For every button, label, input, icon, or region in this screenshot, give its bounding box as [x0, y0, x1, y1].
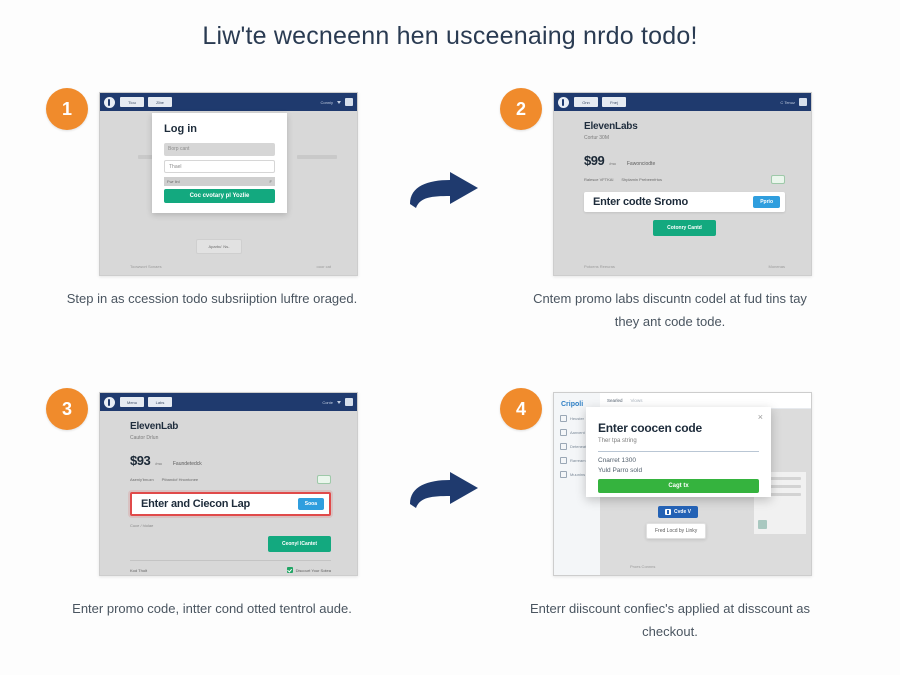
nav-account-label[interactable]: C Tenuz — [780, 100, 795, 105]
confirm-button[interactable]: Ceonyl ICantet — [268, 536, 331, 552]
modal-row-1: Cnarret 1300 — [598, 457, 636, 464]
nav-chip-1[interactable]: Menu — [120, 397, 144, 407]
meta-left: Ralesce VFTKAl — [584, 177, 613, 182]
footer-left-text: Proes Connns — [630, 564, 655, 569]
navbar-right: Conte — [322, 398, 353, 406]
summary-value-wrap: Discourt Your Sotea — [287, 567, 331, 573]
blue-button-label: Cvde V — [674, 509, 691, 515]
meta-mid: Ptbandcf Hnontonee — [162, 477, 198, 482]
summary-row: Kod Tholt Discourt Your Sotea — [130, 567, 331, 573]
page-body: ElevenLabs Cortur 30M $99 /mo Fawonciodt… — [554, 111, 811, 275]
email-field[interactable]: Borp cant — [164, 143, 275, 156]
screenshot-step-2[interactable]: Onn Fnej C Tenuz ElevenLabs Cortur 30M $… — [553, 92, 812, 276]
menu-square-icon[interactable] — [345, 398, 353, 406]
menu-square-icon[interactable] — [345, 98, 353, 106]
email-placeholder: Borp cant — [168, 146, 189, 152]
price-line: $99 /mo Fawonciodte — [584, 153, 785, 168]
promo-apply-button[interactable]: Sooa — [298, 498, 324, 510]
tab-active[interactable]: Searled — [607, 398, 623, 403]
footer-right-text: ooor cat — [317, 264, 331, 269]
meta-mid: Shplamin Prebeenfrtos — [621, 177, 662, 182]
sidebar-item-label: Rarream — [570, 458, 586, 463]
promo-code-value: Ehter and Ciecon Lap — [141, 498, 250, 510]
promo-hint-text: Cuce / hiolae — [130, 523, 331, 528]
nav-account-label[interactable]: Conniy — [321, 100, 333, 105]
app-navbar: Tiou Zibe Conniy — [100, 93, 357, 111]
screenshot-step-4[interactable]: Cripoli Heuster Aanvent Deteneat Rarream — [553, 392, 812, 576]
caption-step-2: Cntem promo labs discuntn codel at fud t… — [520, 288, 820, 334]
menu-square-icon[interactable] — [799, 98, 807, 106]
forgot-icon: F — [270, 179, 272, 184]
confirm-button[interactable]: Cotonry Cantd — [653, 220, 716, 236]
modal-heading: Enter coocen code — [598, 421, 702, 435]
page-body: Log in Borp cant Thael Fwr linl F Coc cv… — [100, 111, 357, 275]
modal-subtitle: Ther tpa string — [598, 438, 637, 444]
nav-chip-2[interactable]: Labs — [148, 397, 172, 407]
pricing-card: ElevenLab Cautor Drlun $93 /mo Faundeted… — [130, 421, 331, 576]
caption-step-1: Step in as ccession todo subsriiption lu… — [62, 288, 362, 311]
tab-views[interactable]: Viows — [631, 398, 643, 403]
infographic-page: Liw'te wecneenn hen usceenaing nrdo todo… — [0, 0, 900, 675]
shield-logo-icon — [104, 97, 115, 108]
chevron-down-icon[interactable] — [337, 401, 341, 404]
price-note: Faundetedck — [173, 461, 202, 467]
document-icon — [560, 429, 567, 436]
price-period: /mo — [609, 161, 616, 166]
modal-confirm-button[interactable]: Cagt tx — [598, 479, 759, 493]
nav-chip-2[interactable]: Zibe — [148, 97, 172, 107]
secondary-blue-button[interactable]: Cvde V — [658, 506, 698, 518]
brand-name: ElevenLab — [130, 421, 331, 432]
modal-row-2: Yuld Parro sold — [598, 467, 642, 474]
nav-chip-1[interactable]: Tiou — [120, 97, 144, 107]
brand-name: ElevenLabs — [584, 121, 785, 132]
price-line: $93 /mo Faundetedck — [130, 453, 331, 468]
step-number-badge: 4 — [500, 388, 542, 430]
chart-icon — [560, 457, 567, 464]
close-icon[interactable]: × — [758, 413, 763, 422]
sidebar-item-label: Heuster — [570, 416, 584, 421]
login-submit-button[interactable]: Coc cvotary pl Yozlie — [164, 189, 275, 203]
chevron-down-icon[interactable] — [337, 101, 341, 104]
secondary-action-button[interactable]: Aparbu' Ns- — [196, 239, 242, 254]
promo-code-value: Enter codte Sromo — [593, 196, 688, 208]
navbar-right: Conniy — [321, 98, 353, 106]
step-number-badge: 2 — [500, 88, 542, 130]
brand-subtitle: Cautor Drlun — [130, 435, 331, 441]
price-amount: $93 — [130, 453, 150, 468]
footer-right-text: Monenas — [769, 264, 785, 269]
divider — [130, 560, 331, 561]
password-field[interactable]: Thael — [164, 160, 275, 173]
meta-left: Aseniy'bnuzn — [130, 477, 154, 482]
page-body: ElevenLab Cautor Drlun $93 /mo Faundeted… — [100, 411, 357, 575]
check-icon — [287, 567, 293, 573]
screenshot-step-1[interactable]: Tiou Zibe Conniy Log in Borp cant — [99, 92, 358, 276]
sidebar-item-label: Muunins — [570, 472, 585, 477]
sidebar-item-label: Deteneat — [570, 444, 586, 449]
brand-subtitle: Cortur 30M — [584, 135, 785, 141]
shield-logo-icon — [104, 397, 115, 408]
forgot-label: Fwr linl — [167, 179, 180, 184]
discount-code-modal: × Enter coocen code Ther tpa string Cnar… — [586, 407, 771, 497]
arrow-right-2 — [404, 466, 484, 514]
status-badge — [771, 175, 785, 184]
footer-left-text: Potoens Reeuras — [584, 264, 615, 269]
shield-logo-icon — [558, 97, 569, 108]
nav-chip-1[interactable]: Onn — [574, 97, 598, 107]
price-amount: $99 — [584, 153, 604, 168]
app-navbar: Onn Fnej C Tenuz — [554, 93, 811, 111]
app-navbar: Menu Labs Conte — [100, 393, 357, 411]
login-heading: Log in — [164, 123, 197, 135]
summary-value: Discourt Your Sotea — [296, 568, 331, 573]
plan-meta-row: Aseniy'bnuzn Ptbandcf Hnontonee — [130, 475, 331, 484]
nav-account-label[interactable]: Conte — [322, 400, 333, 405]
footer-left-text: Toowwort Sonaes — [130, 264, 162, 269]
gear-icon — [560, 471, 567, 478]
price-note: Fawonciodte — [627, 161, 655, 167]
caption-step-4: Enterr diiscount confiec's applied at di… — [520, 598, 820, 644]
pricing-card: ElevenLabs Cortur 30M $99 /mo Fawonciodt… — [584, 121, 785, 236]
login-modal: Log in Borp cant Thael Fwr linl F Coc cv… — [152, 113, 287, 213]
password-placeholder: Thael — [169, 164, 182, 170]
confirm-row: Ceonyl ICantet — [130, 536, 331, 552]
folder-icon — [560, 443, 567, 450]
forgot-row[interactable]: Fwr linl F — [164, 177, 275, 186]
step-number-badge: 1 — [46, 88, 88, 130]
navbar-right: C Tenuz — [780, 98, 807, 106]
plan-meta-row: Ralesce VFTKAl Shplamin Prebeenfrtos — [584, 175, 785, 184]
arrow-right-1 — [404, 166, 484, 214]
promo-code-input-highlighted[interactable]: Ehter and Ciecon Lap Sooa — [130, 492, 331, 516]
placeholder-text — [297, 155, 337, 159]
promo-code-input[interactable]: Enter codte Sromo Pprio — [584, 192, 785, 212]
promo-apply-button[interactable]: Pprio — [753, 196, 780, 208]
caption-step-3: Enter promo code, intter cond otted tent… — [62, 598, 362, 621]
card-icon — [665, 509, 671, 515]
status-badge — [317, 475, 331, 484]
nav-chip-2[interactable]: Fnej — [602, 97, 626, 107]
price-period: /mo — [155, 461, 162, 466]
color-swatch — [758, 520, 767, 529]
confirm-row: Cotonry Cantd — [584, 220, 785, 236]
home-icon — [560, 415, 567, 422]
page-title: Liw'te wecneenn hen usceenaing nrdo todo… — [0, 22, 900, 51]
sidebar-item-label: Aanvent — [570, 430, 585, 435]
screenshot-step-3[interactable]: Menu Labs Conte ElevenLab Cautor Drlun $… — [99, 392, 358, 576]
step-number-badge: 3 — [46, 388, 88, 430]
tooltip: Fred Locd by Linky — [646, 523, 706, 539]
modal-divider — [598, 451, 759, 452]
summary-label: Kod Tholt — [130, 568, 147, 573]
